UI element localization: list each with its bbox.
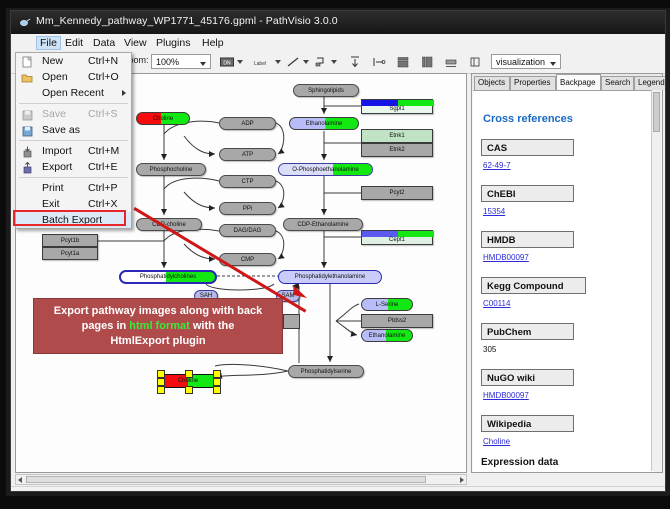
node-ppi[interactable]: PPi (219, 202, 276, 215)
node-etnk1[interactable]: Etnk1 (361, 129, 433, 143)
stack-horizontal-icon[interactable] (419, 54, 435, 70)
db-value-hmdb[interactable]: HMDB00097 (483, 253, 529, 262)
menu-edit[interactable]: Edit (61, 36, 87, 50)
menu-item-open-recent[interactable]: Open Recent (16, 85, 131, 101)
node-ptdss2[interactable]: Ptdss2 (361, 314, 433, 328)
menu-data[interactable]: Data (89, 36, 119, 50)
menu-item-accel: Ctrl+E (88, 161, 117, 173)
menu-item-accel: Ctrl+S (88, 108, 117, 120)
menu-plugins[interactable]: Plugins (152, 36, 194, 50)
datanode-caret-icon[interactable] (237, 60, 243, 64)
node-phosphatidylcholines[interactable]: Phosphatidylcholines (119, 270, 217, 284)
line-tool-icon[interactable] (285, 54, 301, 70)
cross-references-heading: Cross references (483, 113, 573, 125)
same-height-icon[interactable] (467, 54, 483, 70)
file-menu-popup: New Ctrl+N Open Ctrl+O Open Recent Save (15, 52, 132, 229)
menu-item-print[interactable]: Print Ctrl+P (16, 180, 131, 196)
side-panel-scrollbar[interactable] (651, 90, 661, 471)
node-atp[interactable]: ATP (219, 148, 276, 161)
menu-item-new[interactable]: New Ctrl+N (16, 53, 131, 69)
interaction-tool-icon[interactable] (313, 54, 329, 70)
node-label: Ethanolamine (306, 121, 343, 127)
side-panel: Objects Properties Backpage Search Legen… (471, 73, 663, 473)
align-left-icon[interactable] (371, 54, 387, 70)
desktop-background: Mm_Kennedy_pathway_WP1771_45176.gpml - P… (0, 0, 670, 509)
node-phosphatidylethanolamine[interactable]: Phosphatidylethanolamine (278, 270, 382, 284)
label-tool-icon[interactable]: Label (247, 54, 273, 70)
chevron-right-icon (122, 90, 126, 96)
menu-item-label: Print (42, 182, 64, 194)
pathvisio-window: Mm_Kennedy_pathway_WP1771_45176.gpml - P… (10, 10, 666, 492)
status-bar: | Gene database: ...m_Derby_20120602.bri… (11, 486, 666, 492)
menu-item-save-as[interactable]: Save as (16, 122, 131, 138)
node-etnk2[interactable]: Etnk2 (361, 143, 433, 157)
db-value-pubchem: 305 (483, 345, 496, 354)
datanode-tool-icon[interactable]: DN (219, 54, 235, 70)
tab-legend[interactable]: Legend (634, 76, 666, 90)
node-label: Cept1 (389, 237, 405, 243)
visualization-combobox[interactable]: visualization (491, 54, 561, 69)
chevron-down-icon (550, 62, 556, 66)
db-value-kegg-compound[interactable]: C00114 (483, 299, 510, 308)
node-ethanolamine-lower[interactable]: Ethanolamine (361, 329, 413, 342)
node-sphingolipids[interactable]: Sphingolipids (293, 84, 359, 97)
menu-item-accel: Ctrl+N (88, 55, 118, 67)
db-label-nugo-wiki: NuGO wiki (481, 369, 574, 386)
node-pcyt2[interactable]: Pcyt2 (361, 186, 433, 200)
node-pcyt1a[interactable]: Pcyt1a (42, 247, 98, 260)
zoom-combobox[interactable]: 100% (151, 54, 211, 69)
node-ctp[interactable]: CTP (219, 175, 276, 188)
menu-item-label: Exit (42, 198, 60, 210)
scroll-left-icon[interactable] (18, 477, 22, 483)
stack-vertical-icon[interactable] (395, 54, 411, 70)
align-top-icon[interactable] (347, 54, 363, 70)
import-icon (21, 145, 34, 157)
menu-separator (19, 177, 128, 178)
menu-separator (19, 103, 128, 104)
menu-item-label: Open Recent (42, 87, 104, 99)
menu-item-accel: Ctrl+X (88, 198, 117, 210)
batch-export-highlight (13, 210, 126, 226)
menu-help[interactable]: Help (198, 36, 228, 50)
backpage-content: Cross references CAS 62-49-7 ChEBI 15354… (473, 90, 654, 472)
menu-item-accel: Ctrl+P (88, 182, 117, 194)
new-document-icon (21, 55, 34, 67)
node-o-phosphoethanolamine[interactable]: O-Phosphoethanolamine (278, 163, 373, 176)
menu-item-label: Save (42, 108, 66, 120)
tab-objects[interactable]: Objects (474, 76, 510, 90)
menu-item-label: Export (42, 161, 72, 173)
callout-connector (283, 314, 300, 329)
node-label: Choline (178, 378, 198, 384)
same-width-icon[interactable] (443, 54, 459, 70)
save-as-icon (21, 124, 34, 136)
app-icon (19, 16, 31, 28)
db-value-chebi[interactable]: 15354 (483, 207, 505, 216)
menu-item-accel: Ctrl+M (88, 145, 119, 157)
node-phosphatidylserine[interactable]: Phosphatidylserine (288, 365, 364, 378)
menu-item-import[interactable]: Import Ctrl+M (16, 143, 131, 159)
menu-file[interactable]: File (36, 36, 61, 50)
callout-box: Export pathway images along with back pa… (33, 298, 283, 354)
zoom-value: 100% (156, 57, 179, 67)
node-choline-top[interactable]: Choline (136, 112, 190, 125)
callout-line-1: Export pathway images along with back (34, 304, 282, 319)
menu-item-label: Save as (42, 124, 80, 136)
node-ethanolamine[interactable]: Ethanolamine (289, 117, 359, 130)
tab-backpage[interactable]: Backpage (556, 74, 601, 90)
node-label: Phosphatidylcholines (140, 274, 196, 280)
db-label-chebi: ChEBI (481, 185, 574, 202)
node-dag[interactable]: DAG/DAG (219, 224, 276, 237)
chevron-down-icon (200, 62, 206, 66)
scrollbar-thumb[interactable] (26, 476, 426, 483)
node-label: L-Serine (376, 302, 399, 308)
menu-bar: File Edit Data View Plugins Help (11, 34, 666, 52)
expression-data-heading: Expression data (481, 457, 558, 468)
menu-separator (19, 140, 128, 141)
menu-item-label: New (42, 55, 63, 67)
node-label: Choline (153, 116, 173, 122)
node-label: Phosphatidylethanolamine (295, 274, 365, 280)
db-label-hmdb: HMDB (481, 231, 574, 248)
scrollbar-thumb[interactable] (653, 92, 660, 132)
callout-highlight: html format (129, 320, 190, 332)
menu-item-accel: Ctrl+O (88, 71, 119, 83)
db-value-wikipedia[interactable]: Choline (483, 437, 510, 446)
window-title: Mm_Kennedy_pathway_WP1771_45176.gpml - P… (36, 15, 338, 27)
canvas-horizontal-scrollbar[interactable] (15, 474, 467, 485)
db-label-wikipedia: Wikipedia (481, 415, 574, 432)
save-disk-icon (21, 108, 34, 120)
node-label: Ethanolamine (369, 333, 406, 339)
menu-item-batch-export[interactable]: Batch Export (16, 212, 131, 228)
node-label: O-Phosphoethanolamine (292, 167, 358, 173)
node-phosphocholine[interactable]: Phosphocholine (136, 163, 206, 176)
line-caret-icon[interactable] (303, 60, 309, 64)
title-bar: Mm_Kennedy_pathway_WP1771_45176.gpml - P… (11, 11, 666, 34)
open-folder-icon (21, 71, 34, 83)
export-icon (21, 161, 34, 173)
node-label: Sgpl1 (389, 106, 404, 112)
node-l-serine[interactable]: L-Serine (361, 298, 413, 311)
menu-view[interactable]: View (120, 36, 151, 50)
node-cdp-ethanolamine[interactable]: CDP-Ethanolamine (283, 218, 363, 231)
node-cept1[interactable]: Cept1 (361, 230, 433, 245)
menu-item-export[interactable]: Export Ctrl+E (16, 159, 131, 175)
label-caret-icon[interactable] (275, 60, 281, 64)
tab-properties[interactable]: Properties (510, 76, 556, 90)
menu-item-label: Open (42, 71, 68, 83)
db-label-pubchem: PubChem (481, 323, 574, 340)
node-sgpl1[interactable]: Sgpl1 (361, 99, 433, 114)
annotation-arrowhead-icon (291, 283, 313, 305)
tab-search[interactable]: Search (601, 76, 634, 90)
node-adp[interactable]: ADP (219, 117, 276, 130)
visualization-value: visualization (496, 57, 545, 67)
callout-line-2: pages in html format with the (34, 319, 282, 334)
db-label-cas: CAS (481, 139, 574, 156)
svg-text:Label: Label (254, 61, 266, 67)
svg-text:DN: DN (223, 61, 231, 67)
menu-item-open[interactable]: Open Ctrl+O (16, 69, 131, 85)
db-value-nugo-wiki[interactable]: HMDB00097 (483, 391, 529, 400)
callout-line-3: HtmlExport plugin (34, 334, 282, 349)
callout-line-2c: with the (190, 320, 235, 332)
interaction-caret-icon[interactable] (331, 60, 337, 64)
db-label-kegg-compound: Kegg Compound (481, 277, 586, 294)
menu-item-save: Save Ctrl+S (16, 106, 131, 122)
callout-line-2a: pages in (82, 320, 130, 332)
menu-item-label: Import (42, 145, 72, 157)
scroll-right-icon[interactable] (460, 477, 464, 483)
db-value-cas[interactable]: 62-49-7 (483, 161, 511, 170)
node-pcyt1b[interactable]: Pcyt1b (42, 234, 98, 247)
side-panel-tabs: Objects Properties Backpage Search Legen… (472, 74, 662, 90)
